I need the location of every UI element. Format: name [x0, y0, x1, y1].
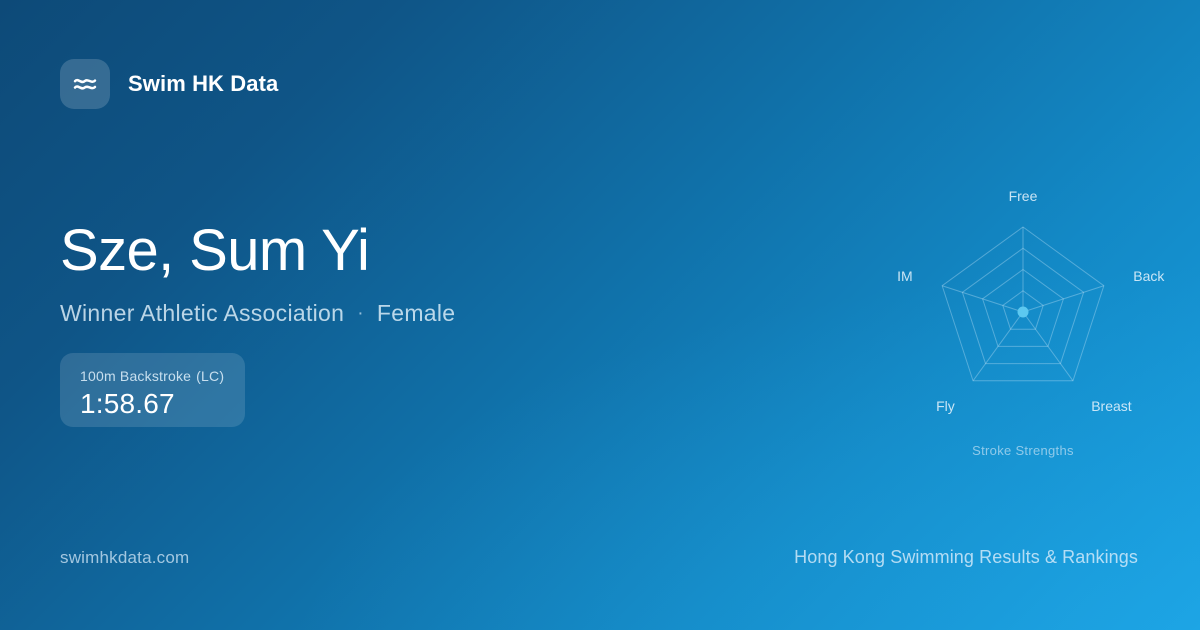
brand-lockup: Swim HK Data [60, 59, 278, 109]
result-event-name: 100m Backstroke [80, 368, 191, 384]
footer-site-url: swimhkdata.com [60, 548, 189, 568]
athlete-gender: Female [377, 300, 456, 327]
radar-axis-label-im: IM [897, 268, 913, 284]
og-card: Swim HK Data Sze, Sum Yi Winner Athletic… [0, 0, 1200, 630]
radar-axis-label-back: Back [1133, 268, 1165, 284]
radar-caption: Stroke Strengths [972, 443, 1074, 458]
radar-axis-labels: FreeBackBreastFlyIM [897, 188, 1165, 414]
wave-icon [60, 59, 110, 109]
radar-series [1018, 307, 1029, 318]
radar-grid [942, 227, 1104, 381]
page-title: Sze, Sum Yi [60, 222, 455, 280]
footer-tagline: Hong Kong Swimming Results & Rankings [794, 547, 1138, 568]
radar-axis-spoke [942, 286, 1023, 312]
radar-data-point [1018, 307, 1029, 318]
athlete-club: Winner Athletic Association [60, 300, 344, 327]
athlete-meta: Winner Athletic Association · Female [60, 300, 455, 327]
featured-result-card: 100m Backstroke(LC) 1:58.67 [60, 353, 245, 427]
radar-axis-label-breast: Breast [1091, 398, 1132, 414]
radar-axis-label-free: Free [1009, 188, 1038, 204]
result-course-code: (LC) [196, 368, 224, 384]
meta-separator: · [357, 303, 364, 325]
radar-axis-spoke [1023, 286, 1104, 312]
brand-name: Swim HK Data [128, 71, 278, 97]
stroke-strengths-radar-chart: FreeBackBreastFlyIM Stroke Strengths [878, 182, 1170, 467]
hero-block: Sze, Sum Yi Winner Athletic Association … [60, 222, 455, 327]
result-time: 1:58.67 [80, 389, 227, 418]
radar-axis-label-fly: Fly [936, 398, 955, 414]
result-event-label: 100m Backstroke(LC) [80, 368, 227, 384]
